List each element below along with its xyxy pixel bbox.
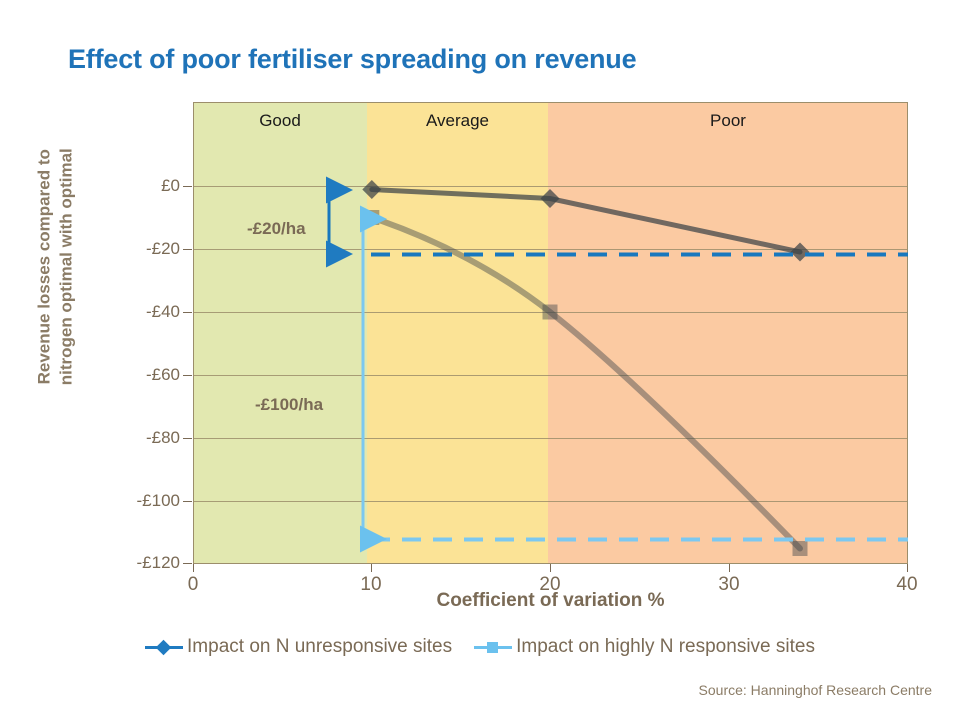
series-point-unresponsive-34 bbox=[791, 243, 810, 262]
x-tick-30 bbox=[729, 564, 730, 572]
series-point-unresponsive-20 bbox=[541, 189, 560, 208]
y-tick-60 bbox=[183, 375, 192, 376]
annotation-label-20: -£20/ha bbox=[247, 219, 306, 239]
series-point-responsive-34 bbox=[793, 541, 808, 556]
series-point-responsive-10 bbox=[364, 210, 379, 225]
annotation-label-100: -£100/ha bbox=[255, 395, 323, 415]
y-label-120: -£120 bbox=[137, 553, 180, 573]
y-label-100: -£100 bbox=[137, 491, 180, 511]
chart-page: Effect of poor fertiliser spreading on r… bbox=[0, 0, 960, 720]
y-axis-title: Revenue losses compared to nitrogen opti… bbox=[33, 72, 77, 462]
series-point-unresponsive-10 bbox=[362, 180, 381, 199]
x-tick-20 bbox=[550, 564, 551, 572]
y-label-40: -£40 bbox=[146, 302, 180, 322]
y-tick-0 bbox=[183, 186, 192, 187]
y-axis-title-line2: nitrogen optimal with optimal bbox=[56, 148, 75, 385]
y-label-60: -£60 bbox=[146, 365, 180, 385]
y-tick-20 bbox=[183, 249, 192, 250]
series-line-responsive bbox=[372, 218, 800, 549]
y-label-80: -£80 bbox=[146, 428, 180, 448]
chart-legend: Impact on N unresponsive sites Impact on… bbox=[0, 636, 960, 658]
x-tick-10 bbox=[371, 564, 372, 572]
y-tick-100 bbox=[183, 501, 192, 502]
x-tick-40 bbox=[907, 564, 908, 572]
series-layer bbox=[193, 102, 908, 564]
y-tick-40 bbox=[183, 312, 192, 313]
y-tick-80 bbox=[183, 438, 192, 439]
x-tick-0 bbox=[193, 564, 194, 572]
legend-label-responsive: Impact on highly N responsive sites bbox=[516, 636, 815, 658]
page-title: Effect of poor fertiliser spreading on r… bbox=[68, 44, 636, 75]
legend-marker-diamond-icon bbox=[145, 640, 183, 654]
y-tick-120 bbox=[183, 563, 192, 564]
x-axis-title: Coefficient of variation % bbox=[193, 590, 908, 612]
legend-marker-square-icon bbox=[474, 640, 512, 654]
source-note: Source: Hanninghof Research Centre bbox=[699, 682, 932, 698]
y-label-0: £0 bbox=[161, 176, 180, 196]
legend-label-unresponsive: Impact on N unresponsive sites bbox=[187, 636, 452, 658]
legend-item-responsive[interactable]: Impact on highly N responsive sites bbox=[474, 636, 815, 658]
plot-area: Good Average Poor £0 -£20 -£40 -£60 -£80… bbox=[193, 102, 908, 564]
series-point-responsive-20 bbox=[543, 305, 558, 320]
legend-item-unresponsive[interactable]: Impact on N unresponsive sites bbox=[145, 636, 452, 658]
y-axis-title-line1: Revenue losses compared to bbox=[34, 149, 53, 384]
y-label-20: -£20 bbox=[146, 239, 180, 259]
